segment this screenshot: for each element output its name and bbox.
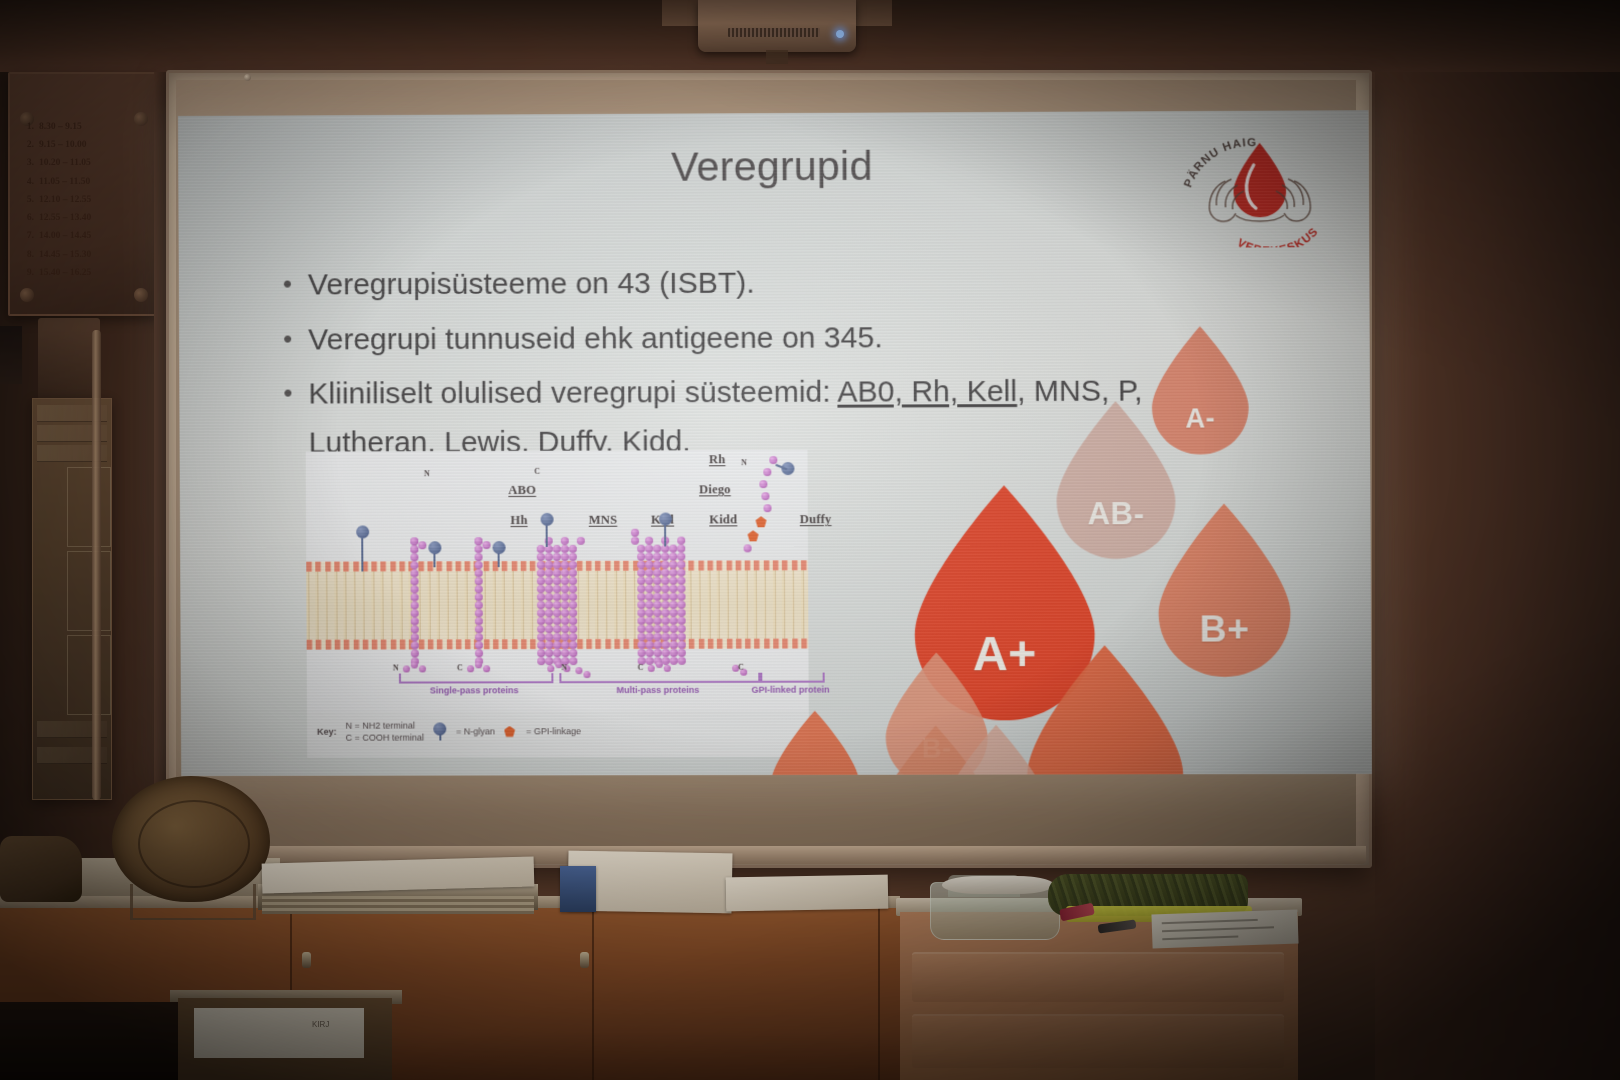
cabinet-seam-2: [592, 908, 594, 1080]
printed-document: [1151, 909, 1298, 948]
wall-rack: [38, 318, 100, 408]
schedule-row: 2.9.15 – 10.00: [22, 136, 144, 154]
schedule-row-number: 5.: [22, 191, 34, 209]
schedule-row-number: 9.: [22, 264, 34, 282]
schedule-row-time: 8.30 – 9.15: [39, 118, 82, 136]
schedule-row-time: 10.20 – 11.05: [39, 154, 91, 172]
schedule-row-number: 2.: [22, 136, 34, 154]
projector-mount-left: [662, 0, 702, 26]
schedule-row: 8.14.45 – 15.30: [22, 246, 144, 264]
blood-drop-0minus: 0-: [766, 709, 863, 776]
blood-drop-abplus: AB+: [936, 722, 1058, 776]
desk-label-text: KIRJ: [312, 1020, 329, 1029]
wall-pipe: [92, 330, 101, 800]
schedule-row-number: 4.: [22, 173, 34, 191]
cabinet-knob-2[interactable]: [580, 952, 589, 968]
schedule-row-time: 14.45 – 15.30: [39, 246, 91, 264]
ceiling-projector: [698, 0, 856, 52]
projector-arm: [766, 50, 788, 64]
lesson-schedule-list: 1.8.30 – 9.152.9.15 – 10.003.10.20 – 11.…: [22, 118, 144, 282]
wall-panel-divider: [154, 72, 166, 862]
schedule-row-number: 3.: [22, 154, 34, 172]
side-table-drawer-2[interactable]: [912, 1014, 1284, 1068]
schedule-row-time: 9.15 – 10.00: [39, 136, 87, 154]
basket-stand: [130, 884, 256, 920]
schedule-row: 5.12.10 – 12.55: [22, 191, 144, 209]
blood-type-droplets: A-AB-B+A+B-0+AAB+0-: [178, 110, 1372, 776]
blue-folder: [560, 866, 596, 912]
schedule-row-time: 12.55 – 13.40: [39, 209, 91, 227]
book-stack-pages: [262, 896, 534, 914]
projector-led-indicator: [836, 30, 844, 38]
poster-pin-bottom-left: [20, 288, 34, 302]
schedule-row-number: 1.: [22, 118, 34, 136]
side-table-drawer-1[interactable]: [912, 952, 1284, 1002]
board-screw-tl: [244, 74, 251, 81]
wall-poster-dark: [0, 326, 22, 384]
schedule-row-number: 8.: [22, 246, 34, 264]
schedule-row-time: 15.40 – 16.25: [39, 264, 91, 282]
schedule-row: 1.8.30 – 9.15: [22, 118, 144, 136]
foreground-dark-object: [0, 1002, 178, 1080]
schedule-row-time: 14.00 – 14.45: [39, 227, 91, 245]
schedule-row: 6.12.55 – 13.40: [22, 209, 144, 227]
drop-shape: [770, 711, 859, 776]
schedule-row-time: 11.05 – 11.50: [39, 173, 90, 191]
paper-sheet-3: [726, 875, 889, 912]
poster-pin-bottom-right: [134, 288, 148, 302]
schedule-row: 3.10.20 – 11.05: [22, 154, 144, 172]
schedule-row: 7.14.00 – 14.45: [22, 227, 144, 245]
basket-inner-ring: [138, 800, 250, 888]
schedule-row: 4.11.05 – 11.50: [22, 173, 144, 191]
cabinet-knob-1[interactable]: [302, 952, 311, 968]
projector-vent: [728, 28, 820, 37]
schedule-row-time: 12.10 – 12.55: [39, 191, 91, 209]
wall-right-shadow: [1375, 0, 1620, 1080]
projector-mount-right: [852, 0, 892, 26]
decorative-stone: [0, 836, 82, 902]
foreground-paper: [194, 1008, 364, 1058]
schedule-row-number: 7.: [22, 227, 34, 245]
schedule-row-number: 6.: [22, 209, 34, 227]
schedule-row: 9.15.40 – 16.25: [22, 264, 144, 282]
presentation-slide: Veregrupid: [178, 110, 1372, 776]
cabinet-seam-3: [878, 908, 880, 1080]
classroom-scene: 1.8.30 – 9.152.9.15 – 10.003.10.20 – 11.…: [0, 0, 1620, 1080]
bowl-lid: [942, 876, 1054, 894]
drop-shape: [940, 725, 1052, 776]
